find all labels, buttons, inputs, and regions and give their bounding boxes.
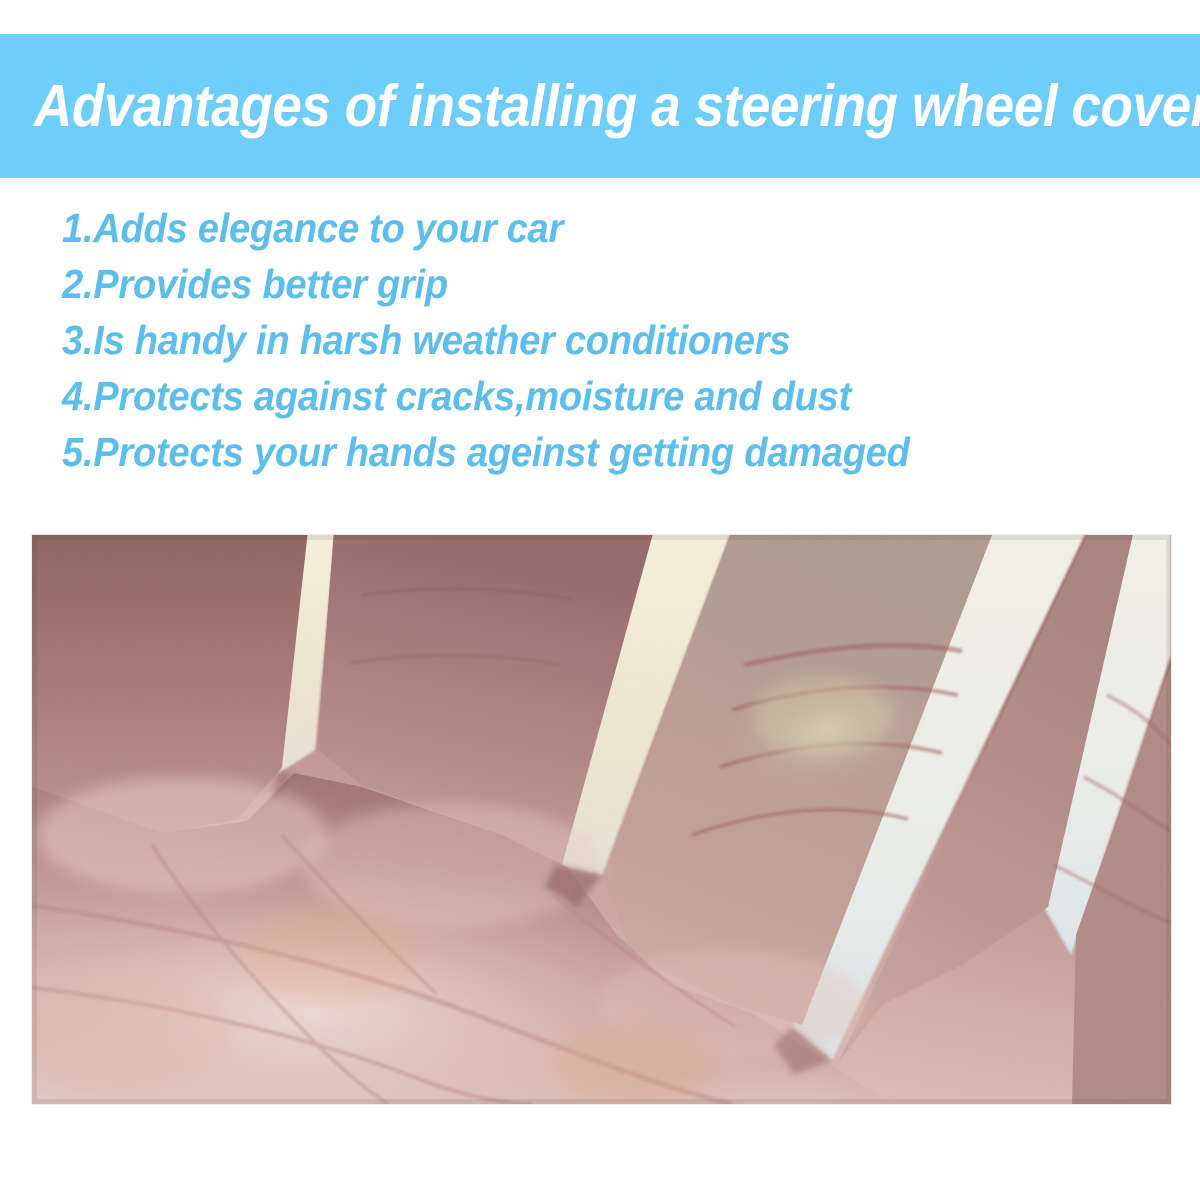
page-title: Advantages of installing a steering whee… xyxy=(34,77,1200,136)
photo-grain xyxy=(32,535,1171,1104)
header-banner: Advantages of installing a steering whee… xyxy=(0,34,1200,178)
hand-palm-photo xyxy=(32,535,1171,1104)
list-item: 5.Protects your hands ageinst getting da… xyxy=(62,424,1085,480)
list-item: 2.Provides better grip xyxy=(62,256,1085,312)
infographic-page: Advantages of installing a steering whee… xyxy=(0,0,1200,1200)
list-item: 4.Protects against cracks,moisture and d… xyxy=(62,368,1085,424)
hand-palm-illustration xyxy=(32,535,1171,1104)
list-item: 3.Is handy in harsh weather conditioners xyxy=(62,312,1085,368)
advantages-list: 1.Adds elegance to your car 2.Provides b… xyxy=(62,200,1162,480)
list-item: 1.Adds elegance to your car xyxy=(62,200,1085,256)
